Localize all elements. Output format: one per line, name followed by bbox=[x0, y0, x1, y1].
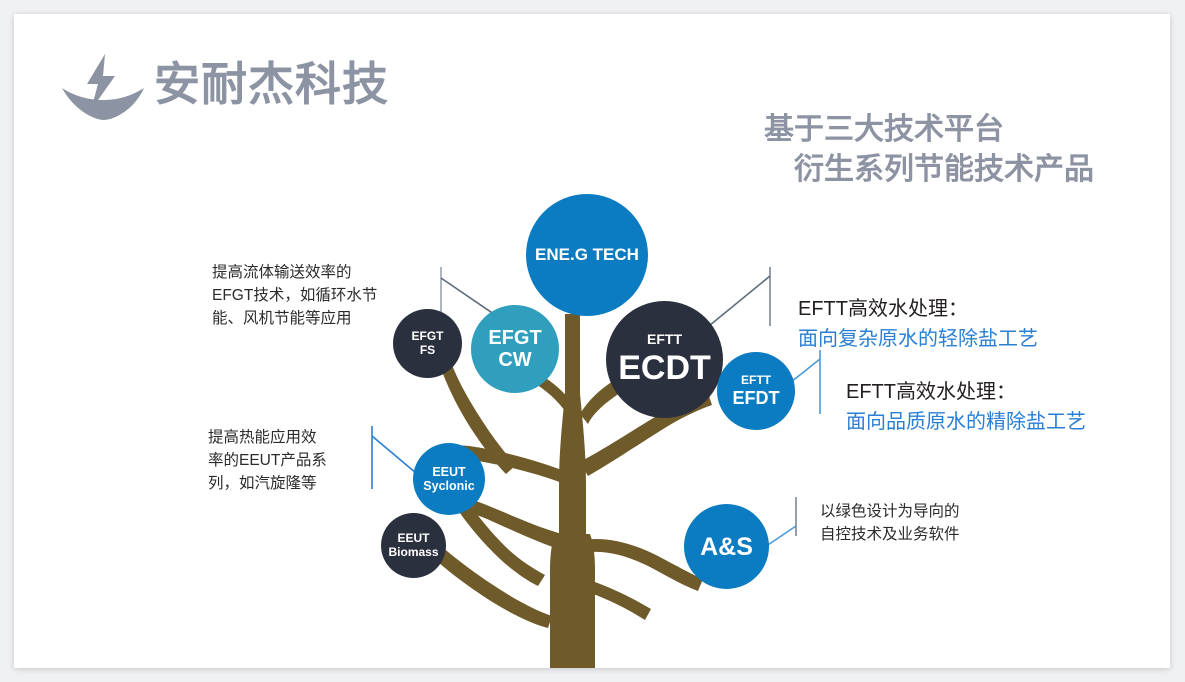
annotation-eftt-fine-detail: 面向品质原水的精除盐工艺 bbox=[846, 407, 1166, 437]
node-eneg-tech-label: ENE.G TECH bbox=[535, 245, 639, 264]
node-eneg-tech[interactable]: ENE.G TECH bbox=[526, 194, 648, 316]
node-eeut-biomass[interactable]: EEUT Biomass bbox=[381, 513, 446, 578]
node-efgt-cw-label: CW bbox=[498, 349, 531, 371]
node-eeut-syclonic-sublabel: EEUT bbox=[432, 465, 465, 479]
annotation-as: 以绿色设计为导向的 自控技术及业务软件 bbox=[820, 500, 1050, 546]
node-efgt-fs-sublabel: EFGT bbox=[412, 330, 444, 343]
node-eeut-biomass-sublabel: EEUT bbox=[397, 532, 429, 545]
node-efgt-cw-sublabel: EFGT bbox=[488, 327, 541, 349]
node-as[interactable]: A&S bbox=[684, 504, 769, 589]
node-eeut-syclonic-label: Syclonic bbox=[423, 479, 474, 493]
node-eftt-ecdt-sublabel: EFTT bbox=[647, 332, 682, 348]
node-as-label: A&S bbox=[700, 533, 753, 561]
node-eftt-efdt-label: EFDT bbox=[733, 388, 780, 408]
node-eeut-syclonic[interactable]: EEUT Syclonic bbox=[413, 443, 485, 515]
node-eeut-biomass-label: Biomass bbox=[388, 546, 438, 559]
annotation-eeut: 提高热能应用效 率的EEUT产品系 列，如汽旋隆等 bbox=[208, 426, 388, 495]
annotation-eftt-coarse-title: EFTT高效水处理： bbox=[798, 298, 968, 320]
annotation-efgt: 提高流体输送效率的 EFGT技术，如循环水节 能、风机节能等应用 bbox=[212, 261, 402, 330]
annotation-eftt-fine: EFTT高效水处理： 面向品质原水的精除盐工艺 bbox=[846, 347, 1166, 467]
node-eftt-efdt[interactable]: EFTT EFDT bbox=[717, 352, 795, 430]
node-efgt-fs-label: FS bbox=[420, 344, 435, 357]
slide-canvas: 安耐杰科技 基于三大技术平台 衍生系列节能技术产品 bbox=[14, 14, 1170, 668]
annotation-eftt-fine-title: EFTT高效水处理： bbox=[846, 381, 1016, 403]
node-eftt-efdt-sublabel: EFTT bbox=[741, 374, 771, 387]
node-eftt-ecdt-label: ECDT bbox=[618, 349, 711, 387]
node-eftt-ecdt[interactable]: EFTT ECDT bbox=[606, 301, 723, 418]
node-efgt-fs[interactable]: EFGT FS bbox=[393, 309, 462, 378]
node-efgt-cw[interactable]: EFGT CW bbox=[471, 305, 559, 393]
connector-eftt1-diagonal bbox=[704, 276, 770, 330]
